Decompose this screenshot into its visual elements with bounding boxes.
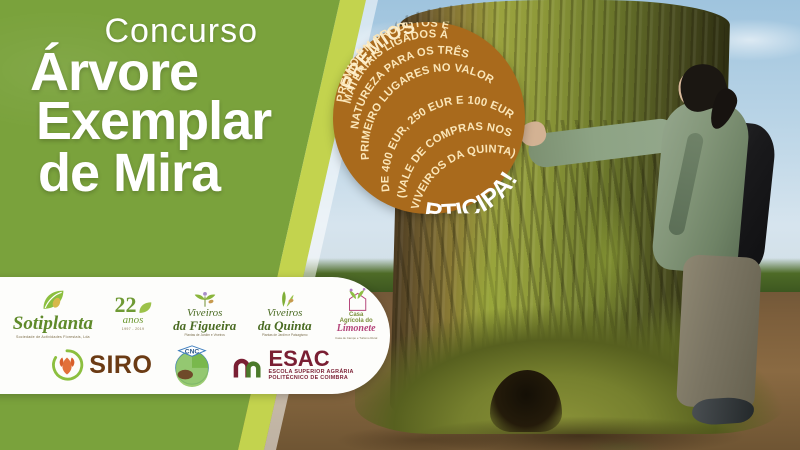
title-block: Concurso Árvore Exemplar de Mira bbox=[30, 14, 350, 199]
leaf-icon bbox=[138, 301, 152, 315]
hiker-boot bbox=[691, 396, 755, 426]
logo-viveiros-da-figueira[interactable]: Viveiros da Figueira Plantas de Jardim e… bbox=[173, 290, 236, 337]
plant-icon bbox=[193, 290, 217, 308]
prize-badge: PRÉMIOS PREMIO EM PRODUTOS E MATERIAIS L… bbox=[331, 20, 526, 215]
logo-sotiplanta-word: Sotiplanta bbox=[13, 314, 93, 333]
hiker-trousers bbox=[676, 254, 762, 410]
leaf-icon bbox=[40, 288, 66, 314]
logo-anos-number: 22 bbox=[115, 295, 137, 315]
logo-anos-word: anos bbox=[123, 315, 144, 326]
poster-canvas: Concurso Árvore Exemplar de Mira PRÉMIOS… bbox=[0, 0, 800, 450]
logo-esac[interactable]: ESAC ESCOLA SUPERIOR AGRÁRIA POLITÉCNICO… bbox=[231, 349, 353, 382]
flower-circle-icon bbox=[50, 348, 84, 382]
logo-sotiplanta[interactable]: Sotiplanta Sociedade de Actividades Flor… bbox=[13, 288, 93, 339]
svg-text:CNC: CNC bbox=[185, 349, 200, 356]
logo-casa-agricola-do-limonete[interactable]: Casa Agrícola do Limonete Casa de Campo … bbox=[333, 286, 379, 341]
logo-figueira-line1: Viveiros bbox=[187, 308, 222, 319]
logo-figueira-line2: da Figueira bbox=[173, 319, 236, 332]
sponsor-row-top: Sotiplanta Sociedade de Actividades Flor… bbox=[2, 283, 390, 343]
arch-icon bbox=[231, 350, 265, 380]
logo-viveiros-da-quinta[interactable]: Viveiros da Quinta Plantas de Jardim e P… bbox=[258, 290, 312, 337]
logo-limonete-line3: Limonete bbox=[337, 324, 376, 334]
hiker-jacket bbox=[651, 99, 751, 276]
logo-cnc[interactable]: CNC bbox=[169, 342, 215, 388]
logo-22-anos[interactable]: 22 anos 1997 - 2019 bbox=[115, 295, 152, 331]
logo-siro[interactable]: SIRO bbox=[50, 348, 152, 382]
house-plant-icon bbox=[333, 286, 379, 312]
prize-badge-text: PRÉMIOS PREMIO EM PRODUTOS E MATERIAIS L… bbox=[331, 20, 526, 215]
logo-quinta-subtitle: Plantas de Jardim e Paisagismo bbox=[262, 333, 308, 337]
sponsor-logo-panel: Sotiplanta Sociedade de Actividades Flor… bbox=[0, 277, 390, 394]
logo-siro-word: SIRO bbox=[89, 353, 152, 378]
logo-sotiplanta-subtitle: Sociedade de Actividades Florestais, Lda bbox=[16, 335, 90, 339]
logo-figueira-subtitle: Plantas de Jardim e Viveiros bbox=[185, 333, 225, 337]
logo-quinta-line1: Viveiros bbox=[267, 308, 302, 319]
page-title: Árvore Exemplar de Mira bbox=[30, 48, 350, 199]
plant-icon bbox=[273, 290, 297, 308]
logo-esac-subtitle-2: POLITÉCNICO DE COIMBRA bbox=[268, 375, 348, 381]
title-line-2: Exemplar bbox=[36, 97, 350, 147]
sponsor-row-bottom: SIRO CNC ESAC ESCO bbox=[42, 339, 362, 391]
logo-anos-years: 1997 - 2019 bbox=[122, 327, 144, 331]
logo-quinta-line2: da Quinta bbox=[258, 319, 312, 332]
title-line-1: Árvore bbox=[30, 48, 350, 98]
cnc-emblem-icon: CNC bbox=[169, 342, 215, 388]
hiker-woman bbox=[640, 60, 800, 450]
logo-esac-word: ESAC bbox=[268, 349, 329, 370]
title-line-3: de Mira bbox=[38, 149, 350, 199]
